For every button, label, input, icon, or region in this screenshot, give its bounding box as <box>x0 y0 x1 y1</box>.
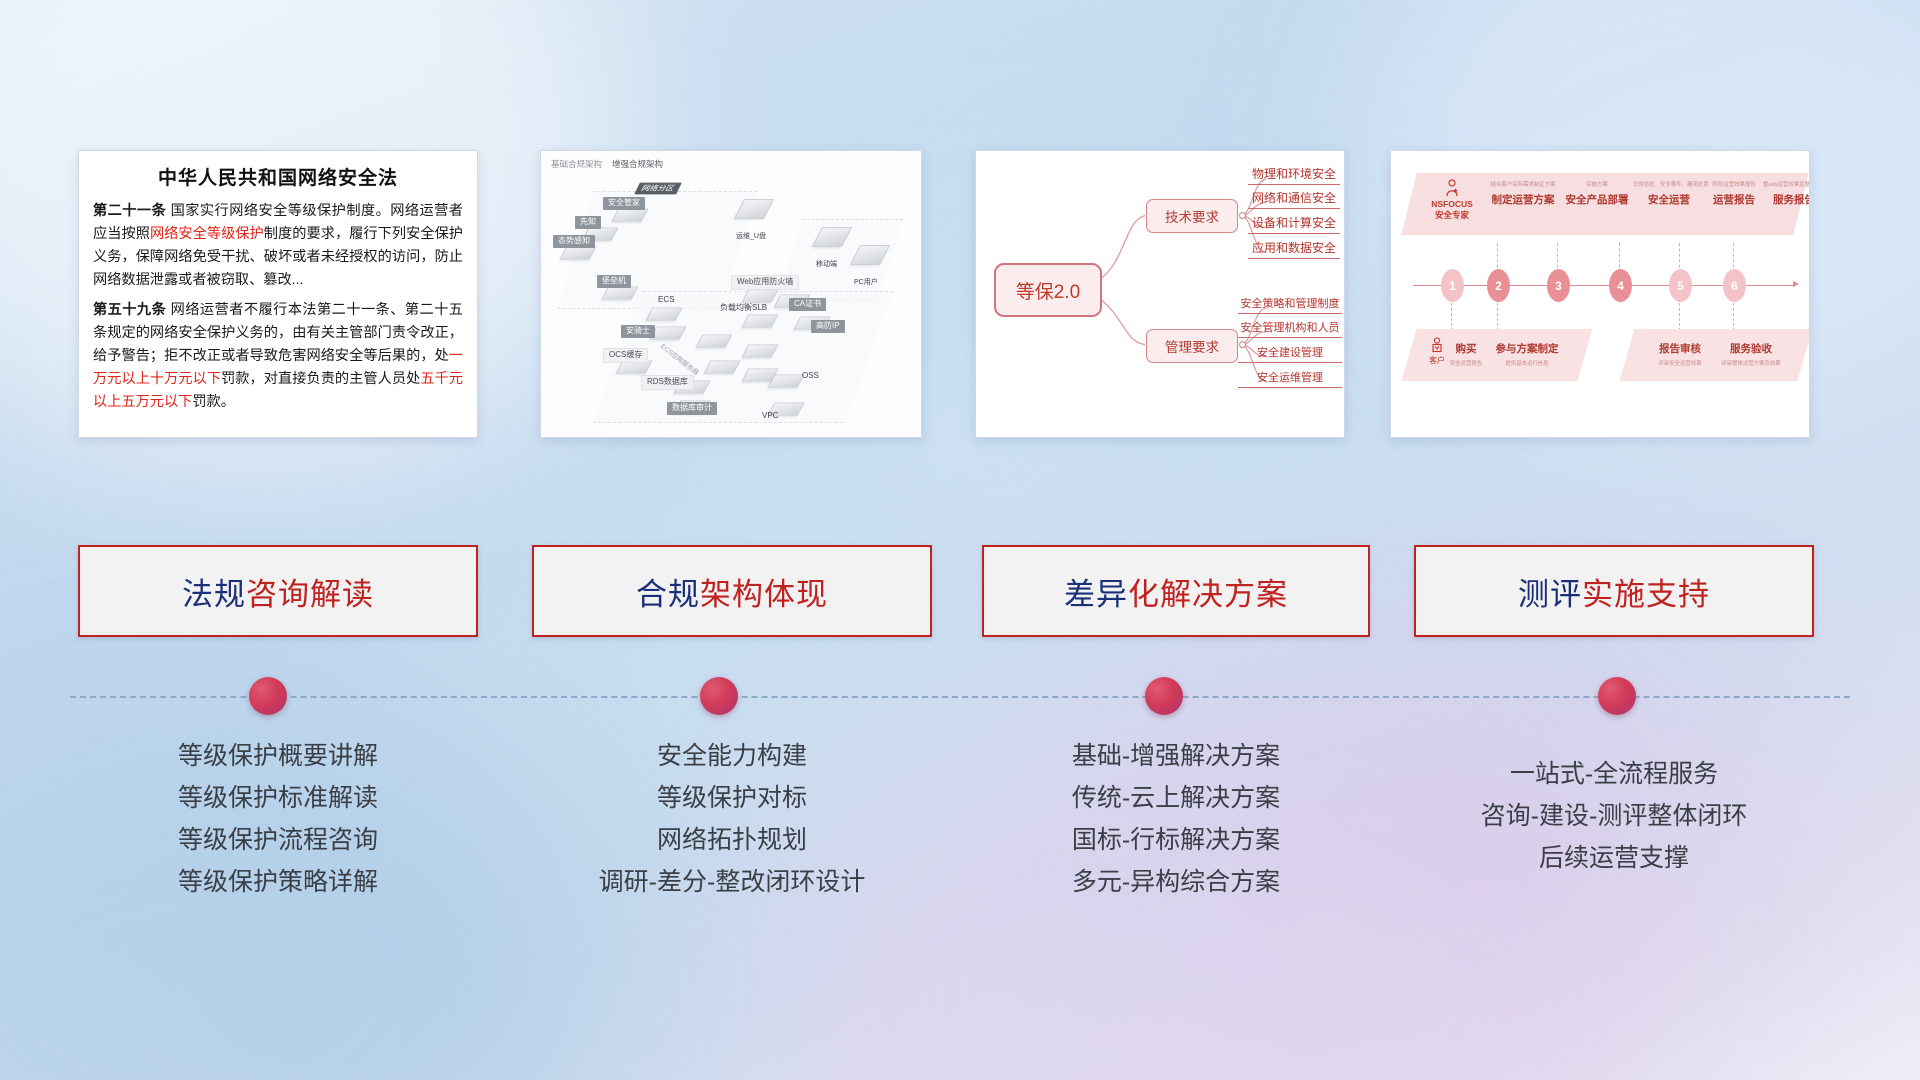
list-item: 基础-增强解决方案 <box>982 735 1370 777</box>
flow-number-2: 2 <box>1487 269 1510 302</box>
law-article-21: 第二十一条 国家实行网络安全等级保护制度。网络运营者应当按照网络安全等级保护制度… <box>93 200 463 292</box>
section-title-4-navy: 测评 <box>1518 577 1582 612</box>
slide-stage: 中华人民共和国网络安全法 第二十一条 国家实行网络安全等级保护制度。网络运营者应… <box>0 0 1920 1080</box>
list-item: 等级保护策略详解 <box>78 861 478 903</box>
section-title-text-4: 测评实施支持 <box>1518 569 1710 614</box>
section-title-box-4[interactable]: 测评实施支持 <box>1414 545 1814 637</box>
list-item: 等级保护概要讲解 <box>78 735 478 777</box>
flow-step-2-main: 安全产品部署 <box>1561 192 1633 207</box>
flow-bottom-item-1-sub: 安全运营报告 <box>1443 359 1489 367</box>
section-title-box-1[interactable]: 法规咨询解读 <box>78 545 478 637</box>
mindmap-leaf-construction-mgmt: 安全建设管理 <box>1238 344 1342 363</box>
mindmap-diagram: 等保2.0 技术要求 物理和环境安全 网络和通信安全 设备和计算安全 应用和数据… <box>976 151 1344 437</box>
architecture-canvas: 网络分区 安全管家 先知 态势感知 <box>549 173 913 429</box>
flow-step-5-main: 服务报告 <box>1763 192 1810 207</box>
architecture-node-slb: 负载均衡SLB <box>715 297 772 315</box>
card-law-text: 中华人民共和国网络安全法 第二十一条 国家实行网络安全等级保护制度。网络运营者应… <box>78 150 478 438</box>
mindmap-leaf-network-comm: 网络和通信安全 <box>1248 189 1340 209</box>
screenshot-cards-row: 中华人民共和国网络安全法 第二十一条 国家实行网络安全等级保护制度。网络运营者应… <box>0 150 1920 450</box>
section-title-2-red: 架构体现 <box>700 577 828 612</box>
section-title-3-navy: 差异 <box>1064 577 1128 612</box>
list-item: 调研-差分-整改闭环设计 <box>532 861 932 903</box>
law-document: 中华人民共和国网络安全法 第二十一条 国家实行网络安全等级保护制度。网络运营者应… <box>79 151 477 429</box>
flow-number-3: 3 <box>1547 269 1570 302</box>
mindmap-leaf-physical-env: 物理和环境安全 <box>1248 165 1340 185</box>
list-item: 多元-异构综合方案 <box>982 861 1370 903</box>
timeline-dot-4[interactable] <box>1598 677 1636 715</box>
architecture-node-anti-ddos: 高防IP <box>811 315 845 333</box>
flow-bottom-item-2-sub: 提供基本运行信息 <box>1487 359 1567 367</box>
mindmap-branch-technical: 技术要求 <box>1146 199 1238 233</box>
architecture-node-ocs: OCS缓存 <box>603 344 648 363</box>
architecture-node-ops-usb: 运维_U盘 <box>731 225 771 243</box>
section-title-1-red: 咨询解读 <box>246 577 374 612</box>
flow-tick-customer-5 <box>1679 303 1680 331</box>
section-title-row: 法规咨询解读 合规架构体现 差异化解决方案 测评实施支持 <box>0 545 1920 640</box>
timeline-dot-1[interactable] <box>249 677 287 715</box>
list-item: 传统-云上解决方案 <box>982 777 1370 819</box>
flow-step-5-sub: 整ially运营效果及整体运营效果 <box>1763 183 1810 189</box>
card-mindmap: 等保2.0 技术要求 物理和环境安全 网络和通信安全 设备和计算安全 应用和数据… <box>975 150 1345 438</box>
section-title-4-red: 实施支持 <box>1582 577 1710 612</box>
customer-person-icon <box>1430 337 1444 353</box>
flow-step-1-main: 制定运营方案 <box>1485 192 1561 207</box>
flow-step-4-main: 运营报告 <box>1703 192 1765 207</box>
architecture-node-pc: PC用户 <box>849 271 883 289</box>
detail-list-4: 一站式-全流程服务 咨询-建设-测评整体闭环 后续运营支撑 <box>1414 753 1814 879</box>
detail-lists-row: 等级保护概要讲解 等级保护标准解读 等级保护流程咨询 等级保护策略详解 安全能力… <box>0 735 1920 975</box>
architecture-node-xianzhi: 先知 <box>575 211 601 229</box>
flow-expert-brand: NSFOCUS <box>1431 199 1473 209</box>
list-item: 一站式-全流程服务 <box>1414 753 1814 795</box>
architecture-node-waf: Web应用防火墙 <box>731 271 799 290</box>
flow-step-3-sub: 日常巡检、安全事件、漏洞处置 <box>1633 183 1705 189</box>
timeline-dot-2[interactable] <box>700 677 738 715</box>
card-service-flow: NSFOCUS 安全专家 结合客户实际需求制定方案 制定运营方案 实施方案 安全… <box>1390 150 1810 438</box>
flow-top-banner-content: NSFOCUS 安全专家 结合客户实际需求制定方案 制定运营方案 实施方案 安全… <box>1409 173 1801 235</box>
flow-tick-customer-1 <box>1451 303 1452 331</box>
section-title-text-2: 合规架构体现 <box>636 569 828 614</box>
list-item: 后续运营支撑 <box>1414 837 1814 879</box>
flow-step-1: 结合客户实际需求制定方案 制定运营方案 <box>1485 183 1561 207</box>
flow-number-5: 5 <box>1669 269 1692 302</box>
flow-bottom-item-3-sub: 评审安全运营效果 <box>1647 359 1713 367</box>
mindmap-leaf-policy-system: 安全策略和管理制度 <box>1238 295 1342 314</box>
person-star-icon <box>1444 179 1460 197</box>
architecture-node-ecs: ECS <box>653 289 679 307</box>
flow-bottom-item-4-sub: 评审整体运营方案及效果 <box>1713 359 1789 367</box>
flow-step-3: 日常巡检、安全事件、漏洞处置 安全运营 <box>1633 183 1705 207</box>
flow-step-1-sub: 结合客户实际需求制定方案 <box>1485 183 1561 189</box>
detail-list-3: 基础-增强解决方案 传统-云上解决方案 国标-行标解决方案 多元-异构综合方案 <box>982 735 1370 903</box>
card-cloud-architecture: 基础合规架构 增强合规架构 网络分区 安全管家 <box>540 150 922 438</box>
section-title-3-red: 化解决方案 <box>1128 577 1288 612</box>
timeline-dashed-line <box>70 696 1850 698</box>
list-item: 等级保护对标 <box>532 777 932 819</box>
flow-step-2-sub: 实施方案 <box>1561 183 1633 189</box>
detail-list-1: 等级保护概要讲解 等级保护标准解读 等级保护流程咨询 等级保护策略详解 <box>78 735 478 903</box>
flow-bottom-item-3-main: 报告审核 <box>1647 341 1713 356</box>
flow-bottom-item-3: 报告审核 评审安全运营效果 <box>1647 341 1713 367</box>
law-article-59-part2: 罚款，对直接负责的主管人员处 <box>221 371 420 387</box>
flow-bottom-item-4-main: 服务验收 <box>1713 341 1789 356</box>
flow-expert-role: 安全专家 <box>1435 210 1469 220</box>
detail-list-2: 安全能力构建 等级保护对标 网络拓扑规划 调研-差分-整改闭环设计 <box>532 735 932 903</box>
flow-expert-block: NSFOCUS 安全专家 <box>1421 179 1483 220</box>
list-item: 安全能力构建 <box>532 735 932 777</box>
architecture-node-bastion: 堡垒机 <box>597 270 631 288</box>
flow-bottom-item-4: 服务验收 评审整体运营方案及效果 <box>1713 341 1789 367</box>
list-item: 网络拓扑规划 <box>532 819 932 861</box>
law-title: 中华人民共和国网络安全法 <box>93 163 463 190</box>
law-article-59-part3: 罚款。 <box>192 394 235 410</box>
service-flow-diagram: NSFOCUS 安全专家 结合客户实际需求制定方案 制定运营方案 实施方案 安全… <box>1391 151 1809 437</box>
architecture-node-security-butler: 安全管家 <box>603 192 645 210</box>
list-item: 咨询-建设-测评整体闭环 <box>1414 795 1814 837</box>
list-item: 国标-行标解决方案 <box>982 819 1370 861</box>
architecture-node-mobile: 移动端 <box>811 253 842 271</box>
architecture-tab-enhanced: 增强合规架构 <box>612 158 663 170</box>
mindmap-leaf-org-personnel: 安全管理机构和人员 <box>1238 319 1342 338</box>
flow-step-5: 整ially运营效果及整体运营效果 服务报告 <box>1763 183 1810 207</box>
architecture-node-anqishi: 安骑士 <box>621 320 655 338</box>
section-title-box-2[interactable]: 合规架构体现 <box>532 545 932 637</box>
architecture-node-vpc: VPC <box>757 405 783 423</box>
mindmap-branch-management: 管理要求 <box>1146 329 1238 363</box>
flow-bottom-item-2-main: 参与方案制定 <box>1487 341 1567 356</box>
architecture-tabs: 基础合规架构 增强合规架构 <box>551 158 663 170</box>
flow-bottom-item-1: 购买 安全运营报告 <box>1443 341 1489 367</box>
flow-bottom-item-2: 参与方案制定 提供基本运行信息 <box>1487 341 1567 367</box>
section-title-1-navy: 法规 <box>182 577 246 612</box>
law-article-21-highlight: 网络安全等级保护 <box>150 226 264 242</box>
flow-number-1: 1 <box>1441 269 1464 302</box>
flow-step-2: 实施方案 安全产品部署 <box>1561 183 1633 207</box>
mindmap-leaf-ops-mgmt: 安全运维管理 <box>1238 369 1342 388</box>
flow-bottom-item-1-main: 购买 <box>1443 341 1489 356</box>
architecture-node-situational-awareness: 态势感知 <box>553 230 595 248</box>
law-article-59: 第五十九条 网络运营者不履行本法第二十一条、第二十五条规定的网络安全保护义务的，… <box>93 299 463 414</box>
flow-number-4: 4 <box>1609 269 1632 302</box>
flow-tick-customer-6 <box>1733 303 1734 331</box>
architecture-node-ca: CA证书 <box>789 293 826 311</box>
section-title-text-3: 差异化解决方案 <box>1064 569 1288 614</box>
flow-step-3-main: 安全运营 <box>1633 192 1705 207</box>
law-article-59-label: 第五十九条 <box>93 302 166 318</box>
section-title-box-3[interactable]: 差异化解决方案 <box>982 545 1370 637</box>
flow-axis-arrow-icon <box>1793 281 1799 287</box>
mindmap-leaf-device-compute: 设备和计算安全 <box>1248 214 1340 234</box>
architecture-tab-basic: 基础合规架构 <box>551 158 602 170</box>
flow-tick-customer-2 <box>1497 303 1498 331</box>
flow-step-4-sub: 阶段运营效果报告 <box>1703 183 1765 189</box>
architecture-diagram: 基础合规架构 增强合规架构 网络分区 安全管家 <box>541 151 921 437</box>
list-item: 等级保护标准解读 <box>78 777 478 819</box>
architecture-node-db-audit: 数据库审计 <box>667 397 717 415</box>
list-item: 等级保护流程咨询 <box>78 819 478 861</box>
section-title-text-1: 法规咨询解读 <box>182 569 374 614</box>
timeline-dot-3[interactable] <box>1145 677 1183 715</box>
mindmap-leaf-app-data: 应用和数据安全 <box>1248 239 1340 259</box>
flow-step-4: 阶段运营效果报告 运营报告 <box>1703 183 1765 207</box>
flow-number-6: 6 <box>1723 269 1746 302</box>
mindmap-root-node: 等保2.0 <box>994 263 1102 317</box>
architecture-node-oss: OSS <box>797 365 824 383</box>
section-title-2-navy: 合规 <box>636 577 700 612</box>
law-article-21-label: 第二十一条 <box>93 203 166 219</box>
